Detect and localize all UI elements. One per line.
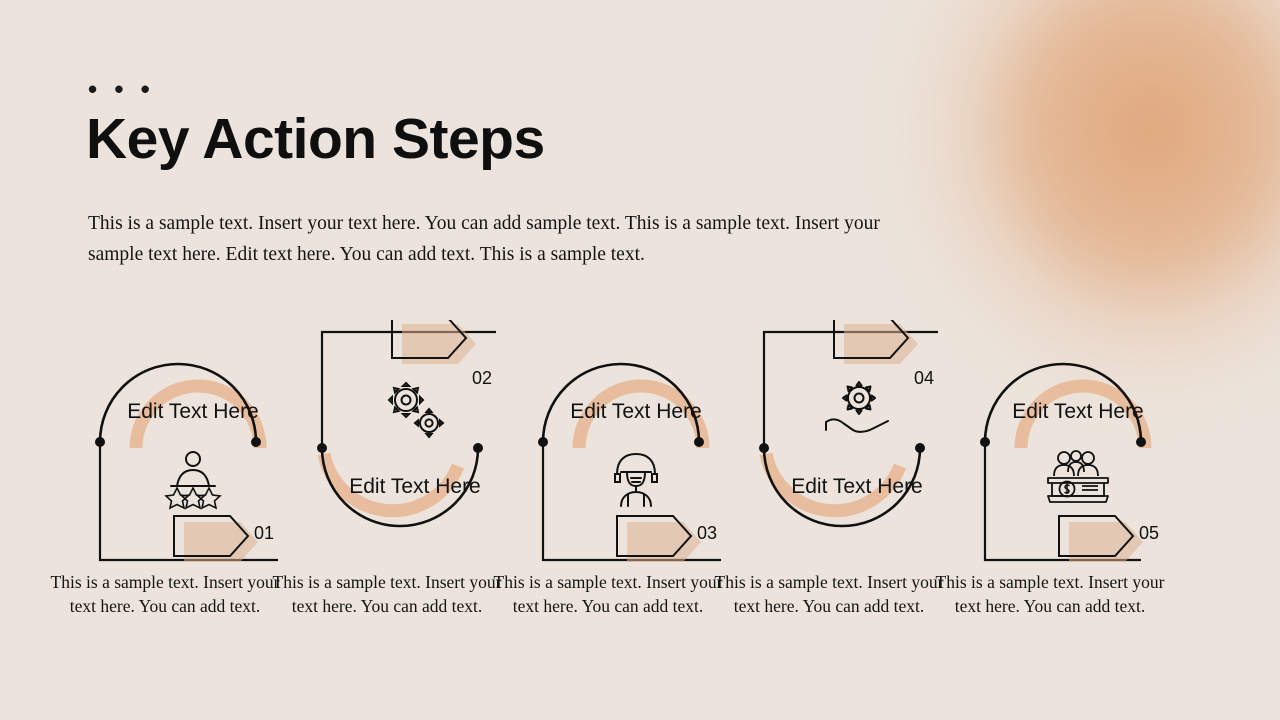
step-05-number: 05	[1139, 523, 1159, 544]
step-03-icon	[511, 448, 761, 515]
step-05-graphic	[953, 320, 1203, 570]
step-03-label: Edit Text Here	[511, 400, 761, 424]
step-01-description: This is a sample text. Insert your text …	[40, 570, 290, 618]
step-04-number: 04	[914, 368, 934, 389]
step-03-graphic	[511, 320, 761, 570]
step-03-description: This is a sample text. Insert your text …	[483, 570, 733, 618]
step-03-number: 03	[697, 523, 717, 544]
step-05[interactable]: Edit Text Here 05 This is a sample text.…	[953, 320, 1203, 660]
step-02-description: This is a sample text. Insert your text …	[262, 570, 512, 618]
page-subtitle: This is a sample text. Insert your text …	[88, 208, 933, 270]
step-01-graphic	[68, 320, 318, 570]
step-02-label: Edit Text Here	[290, 475, 540, 499]
step-01-label: Edit Text Here	[68, 400, 318, 424]
step-04-description: This is a sample text. Insert your text …	[704, 570, 954, 618]
step-01-number: 01	[254, 523, 274, 544]
step-04-graphic	[732, 320, 982, 570]
step-02-icon	[290, 378, 540, 449]
step-02-number: 02	[472, 368, 492, 389]
step-05-label: Edit Text Here	[953, 400, 1203, 424]
steps-diagram: Edit Text Here 01 This is a sample text.…	[0, 320, 1280, 680]
step-05-description: This is a sample text. Insert your text …	[925, 570, 1175, 618]
step-05-icon	[953, 448, 1203, 513]
slide-canvas: • • • Key Action Steps This is a sample …	[0, 0, 1280, 720]
step-04-label: Edit Text Here	[732, 475, 982, 499]
eyebrow-dots: • • •	[88, 84, 155, 94]
step-04-icon	[732, 378, 982, 445]
step-01-icon	[68, 448, 318, 515]
page-title: Key Action Steps	[86, 106, 545, 172]
